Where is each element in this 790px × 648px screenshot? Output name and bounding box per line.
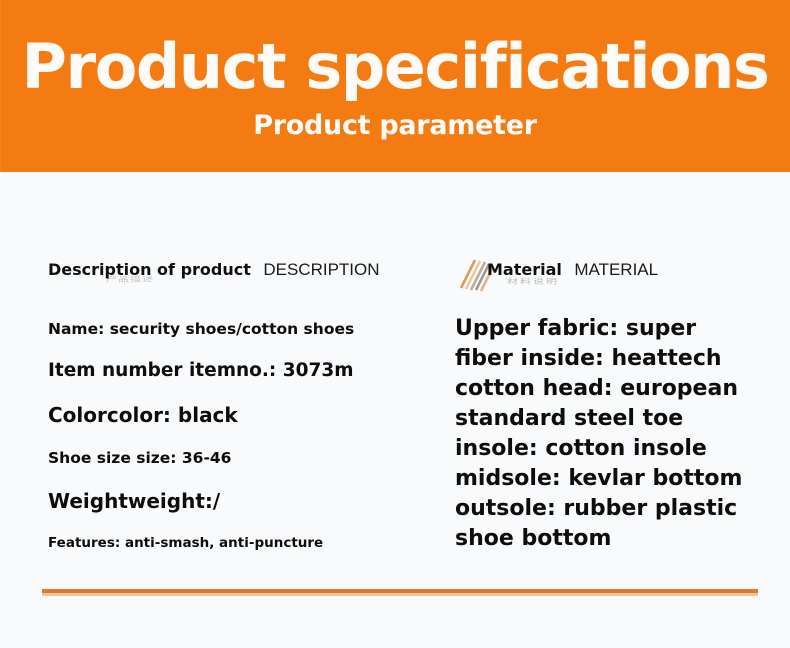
spacer	[48, 467, 448, 489]
spacer	[48, 338, 448, 360]
page-subtitle: Product parameter	[0, 110, 790, 142]
spec-row-features: Features: anti-smash, anti-puncture	[48, 535, 448, 551]
material-heading-sub: MATERIAL	[574, 260, 658, 279]
header-banner: Product specifications Product parameter	[0, 0, 790, 172]
material-line: Upper fabric: super	[455, 314, 775, 344]
divider-bar-secondary	[42, 593, 758, 596]
material-line: fiber inside: heattech	[455, 344, 775, 374]
material-line: shoe bottom	[455, 524, 775, 554]
spec-row-shoe-size: Shoe size size: 36-46	[48, 449, 448, 467]
material-heading: Material	[487, 260, 562, 279]
material-line: outsole: rubber plastic	[455, 494, 775, 524]
spec-row-name: Name: security shoes/cotton shoes	[48, 320, 448, 338]
material-line: midsole: kevlar bottom	[455, 464, 775, 494]
description-column: Description of product DESCRIPTION 产品描述 …	[48, 260, 448, 551]
spacer	[48, 381, 448, 403]
spec-row-item-number: Item number itemno.: 3073m	[48, 360, 448, 381]
description-heading-sub: DESCRIPTION	[263, 260, 379, 279]
material-body: Upper fabric: super fiber inside: heatte…	[455, 314, 775, 554]
description-section-header: Description of product DESCRIPTION 产品描述	[48, 260, 448, 294]
material-line: insole: cotton insole	[455, 434, 775, 464]
description-heading: Description of product	[48, 260, 251, 279]
spacer	[48, 294, 448, 320]
content-card: Description of product DESCRIPTION 产品描述 …	[0, 172, 790, 648]
material-line: standard steel toe	[455, 404, 775, 434]
product-specifications-page: Product specifications Product parameter…	[0, 0, 790, 648]
spec-row-weight: Weightweight:/	[48, 489, 448, 513]
material-line: cotton head: european	[455, 374, 775, 404]
material-section-header: Material MATERIAL 材料说明	[455, 260, 775, 294]
spacer	[48, 513, 448, 535]
material-column: Material MATERIAL 材料说明 Upper fabric: sup…	[455, 260, 775, 554]
spec-row-color: Colorcolor: black	[48, 403, 448, 427]
bottom-divider	[42, 589, 758, 596]
spacer	[48, 427, 448, 449]
page-title: Product specifications	[0, 33, 790, 101]
